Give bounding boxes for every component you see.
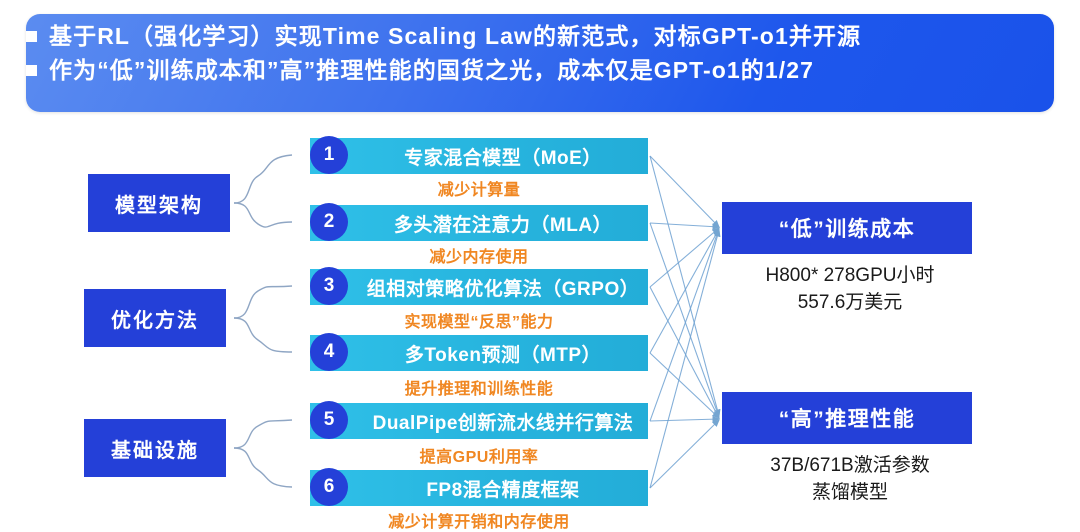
header-bullet-list: 基于RL（强化学习）实现Time Scaling Law的新范式，对标GPT-o…	[26, 22, 1066, 90]
category-box-optimization-method[interactable]: 优化方法	[84, 289, 226, 347]
item-title: 组相对策略优化算法（GRPO）	[364, 269, 642, 305]
header-bullet-item: 基于RL（强化学习）实现Time Scaling Law的新范式，对标GPT-o…	[26, 22, 1066, 50]
fan-line	[650, 223, 719, 417]
item-number-badge-1: 1	[310, 136, 348, 174]
fan-line	[650, 419, 719, 421]
header-bullet-item: 作为“低”训练成本和”高”推理性能的国货之光，成本仅是GPT-o1的1/27	[26, 56, 1066, 84]
bracket-path	[234, 318, 292, 352]
outcome-box-low-cost[interactable]: “低”训练成本	[722, 202, 972, 254]
item-title: 专家混合模型（MoE）	[364, 138, 642, 174]
fan-line	[650, 156, 719, 227]
fan-line	[650, 229, 719, 421]
item-number: 3	[324, 275, 335, 297]
category-box-model-architecture[interactable]: 模型架构	[88, 174, 230, 232]
item-caption-1: 减少计算量	[310, 176, 648, 200]
item-number: 1	[324, 144, 335, 166]
outcome-title: “低”训练成本	[779, 213, 916, 243]
item-number: 4	[324, 341, 335, 363]
item-caption-2: 减少内存使用	[310, 243, 648, 267]
item-bar-1[interactable]: 专家混合模型（MoE）	[310, 138, 648, 174]
item-number: 5	[324, 409, 335, 431]
outcome-box-high-performance[interactable]: “高”推理性能	[722, 392, 972, 444]
item-caption-5: 提高GPU利用率	[310, 443, 648, 467]
item-number-badge-5: 5	[310, 401, 348, 439]
item-bar-6[interactable]: FP8混合精度框架	[310, 470, 648, 506]
item-caption-6: 减少计算开销和内存使用	[310, 508, 648, 532]
item-bar-3[interactable]: 组相对策略优化算法（GRPO）	[310, 269, 648, 305]
item-number: 6	[324, 476, 335, 498]
bracket-path	[234, 286, 292, 318]
item-caption-4: 提升推理和训练性能	[310, 375, 648, 399]
category-label: 优化方法	[111, 304, 199, 333]
fan-line	[650, 353, 719, 418]
bullet-square-icon	[26, 31, 37, 42]
item-title: DualPipe创新流水线并行算法	[364, 403, 642, 439]
item-bar-5[interactable]: DualPipe创新流水线并行算法	[310, 403, 648, 439]
item-number-badge-3: 3	[310, 267, 348, 305]
header-bullet-text: 作为“低”训练成本和”高”推理性能的国货之光，成本仅是GPT-o1的1/27	[49, 56, 814, 84]
outcome-subtitle-high-performance: 37B/671B激活参数 蒸馏模型	[700, 452, 1000, 506]
slide-canvas: 基于RL（强化学习）实现Time Scaling Law的新范式，对标GPT-o…	[0, 0, 1080, 532]
bracket-path	[234, 420, 292, 448]
item-title: 多头潜在注意力（MLA）	[364, 205, 642, 241]
header-bullet-text: 基于RL（强化学习）实现Time Scaling Law的新范式，对标GPT-o…	[49, 22, 861, 50]
outcome-title: “高”推理性能	[779, 403, 916, 433]
bracket-path	[234, 203, 292, 227]
bullet-square-icon	[26, 65, 37, 76]
item-caption-3: 实现模型“反思”能力	[310, 308, 648, 332]
item-number-badge-2: 2	[310, 203, 348, 241]
fan-line	[650, 223, 719, 227]
item-bar-2[interactable]: 多头潜在注意力（MLA）	[310, 205, 648, 241]
item-title: FP8混合精度框架	[364, 470, 642, 506]
bracket-path	[234, 155, 292, 203]
category-box-infrastructure[interactable]: 基础设施	[84, 419, 226, 477]
item-number-badge-6: 6	[310, 468, 348, 506]
item-bar-4[interactable]: 多Token预测（MTP）	[310, 335, 648, 371]
bracket-path	[234, 448, 292, 487]
item-title: 多Token预测（MTP）	[364, 335, 642, 371]
category-label: 模型架构	[115, 189, 203, 218]
category-label: 基础设施	[111, 434, 199, 463]
item-number-badge-4: 4	[310, 333, 348, 371]
outcome-subtitle-low-cost: H800* 278GPU小时 557.6万美元	[700, 262, 1000, 316]
item-number: 2	[324, 211, 335, 233]
